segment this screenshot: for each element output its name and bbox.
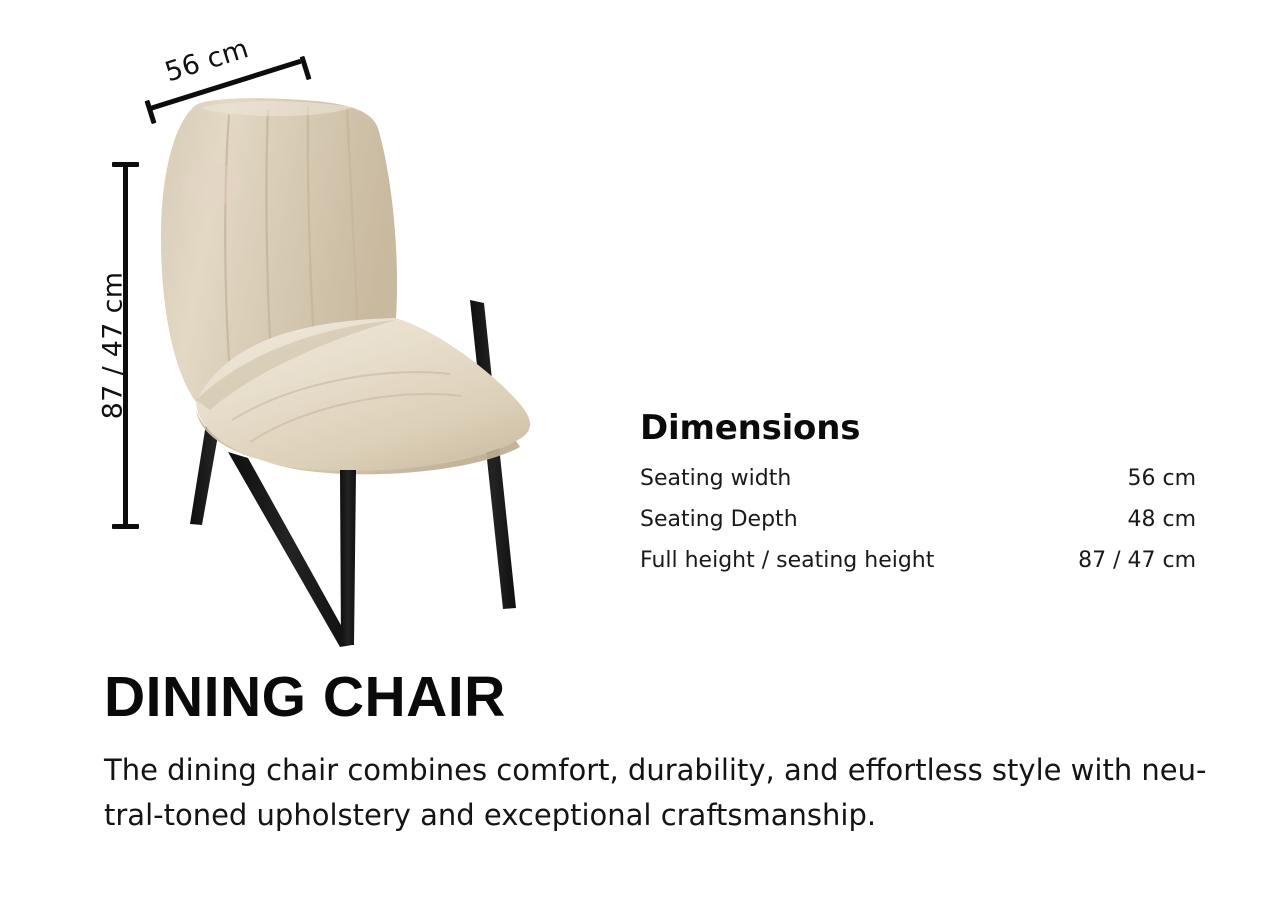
dimensions-panel: Dimensions Seating width 56 cm Seating D… [640,408,1196,585]
product-description: The dining chair combines comfort, durab… [104,748,1214,838]
spec-label: Seating width [640,462,1037,503]
spec-label: Seating Depth [640,503,1037,544]
width-dimension-callout: 56 cm [148,62,313,122]
spec-value: 87 / 47 cm [1037,544,1196,585]
height-dimension-label: 87 / 47 cm [98,246,129,446]
height-dimension-callout: 87 / 47 cm [78,160,148,535]
spec-label: Full height / seating height [640,544,1037,585]
spec-sheet: 56 cm 87 / 47 cm Dimensions Seating widt… [0,0,1280,914]
table-row: Seating Depth 48 cm [640,503,1196,544]
height-dimension-cap-top [112,162,139,167]
chair-leg-front-right [340,470,356,645]
table-row: Full height / seating height 87 / 47 cm [640,544,1196,585]
table-row: Seating width 56 cm [640,462,1196,503]
height-dimension-cap-bottom [112,524,139,529]
spec-value: 56 cm [1037,462,1196,503]
spec-value: 48 cm [1037,503,1196,544]
dimensions-table: Seating width 56 cm Seating Depth 48 cm … [640,462,1196,585]
page-title: DINING CHAIR [104,668,506,728]
dimensions-heading: Dimensions [640,408,1196,448]
chair-leg-front-left [228,452,352,647]
